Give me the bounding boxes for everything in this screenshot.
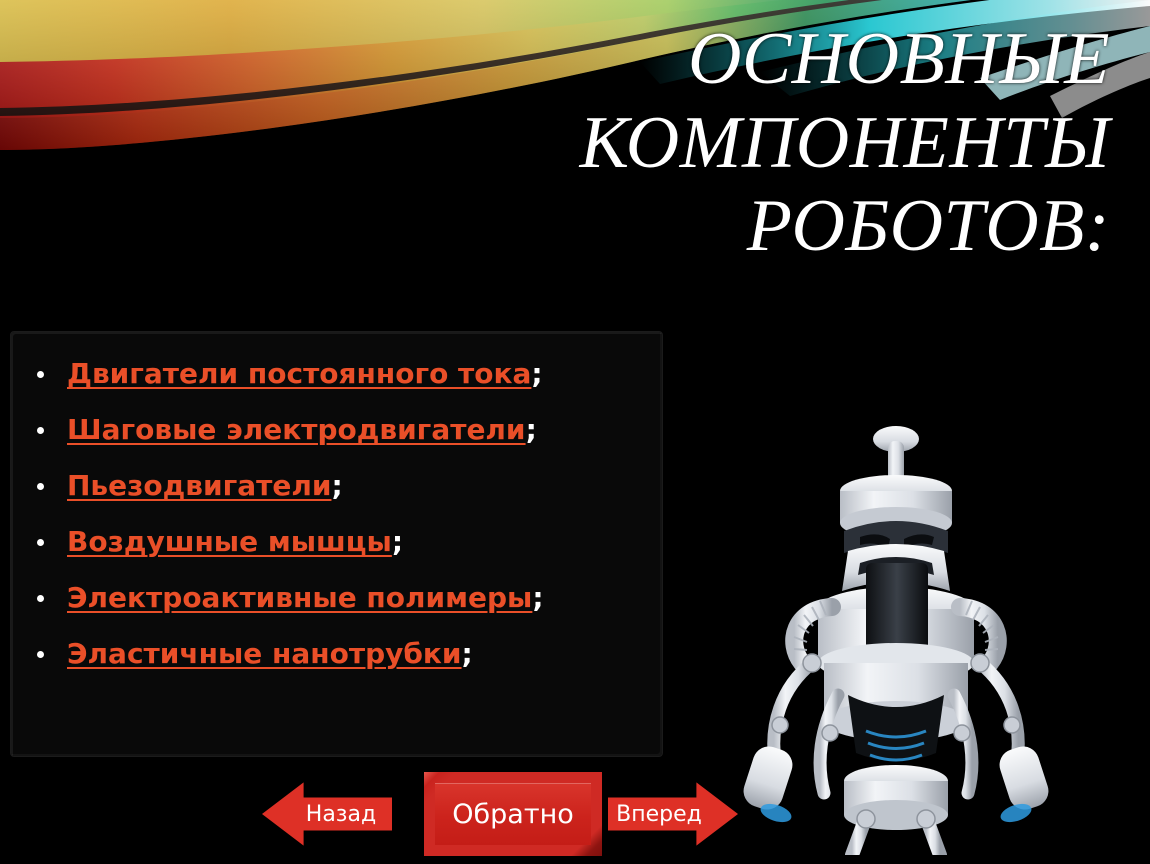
bullet-terminator-5: ; [532,581,543,614]
bullet-dot-icon [37,427,44,434]
bullet-dot-icon [37,483,44,490]
home-button[interactable]: Обратно [424,772,602,856]
bullet-link-1[interactable]: Двигатели постоянного тока [67,357,531,390]
home-button-face: Обратно [435,783,591,845]
bullet-link-4[interactable]: Воздушные мышцы [67,525,392,558]
bullet-link-6[interactable]: Эластичные нанотрубки [67,637,462,670]
content-box: Двигатели постоянного тока; Шаговые элек… [10,331,663,757]
bullet-link-2[interactable]: Шаговые электродвигатели [67,413,526,446]
forward-arrow-button[interactable]: Вперед [608,778,738,850]
bullet-terminator-3: ; [331,469,342,502]
back-arrow-label: Назад [306,802,376,827]
presentation-slide: ОСНОВНЫЕ КОМПОНЕНТЫ РОБОТОВ: Двигатели п… [0,0,1150,864]
list-item: Шаговые электродвигатели; [23,402,650,458]
list-item: Двигатели постоянного тока; [23,346,650,402]
list-item: Воздушные мышцы; [23,514,650,570]
title-line-3: РОБОТОВ: [430,185,1110,269]
bullet-link-3[interactable]: Пьезодвигатели [67,469,331,502]
slide-navigation: Назад Обратно Вперед [0,768,1150,864]
bullet-link-5[interactable]: Электроактивные полимеры [67,581,532,614]
back-arrow-button[interactable]: Назад [262,778,392,850]
page-title: ОСНОВНЫЕ КОМПОНЕНТЫ РОБОТОВ: [430,18,1110,269]
bullet-terminator-2: ; [526,413,537,446]
forward-arrow-label: Вперед [616,802,702,827]
bullet-dot-icon [37,371,44,378]
bullet-terminator-1: ; [531,357,542,390]
list-item: Электроактивные полимеры; [23,570,650,626]
bullet-terminator-6: ; [462,637,473,670]
bullet-terminator-4: ; [392,525,403,558]
list-item: Пьезодвигатели; [23,458,650,514]
bullet-dot-icon [37,595,44,602]
bullet-list: Двигатели постоянного тока; Шаговые элек… [23,346,650,682]
bullet-dot-icon [37,651,44,658]
bullet-dot-icon [37,539,44,546]
home-button-label: Обратно [452,799,574,830]
list-item: Эластичные нанотрубки; [23,626,650,682]
title-line-1: ОСНОВНЫЕ [430,18,1110,102]
title-line-2: КОМПОНЕНТЫ [430,102,1110,186]
